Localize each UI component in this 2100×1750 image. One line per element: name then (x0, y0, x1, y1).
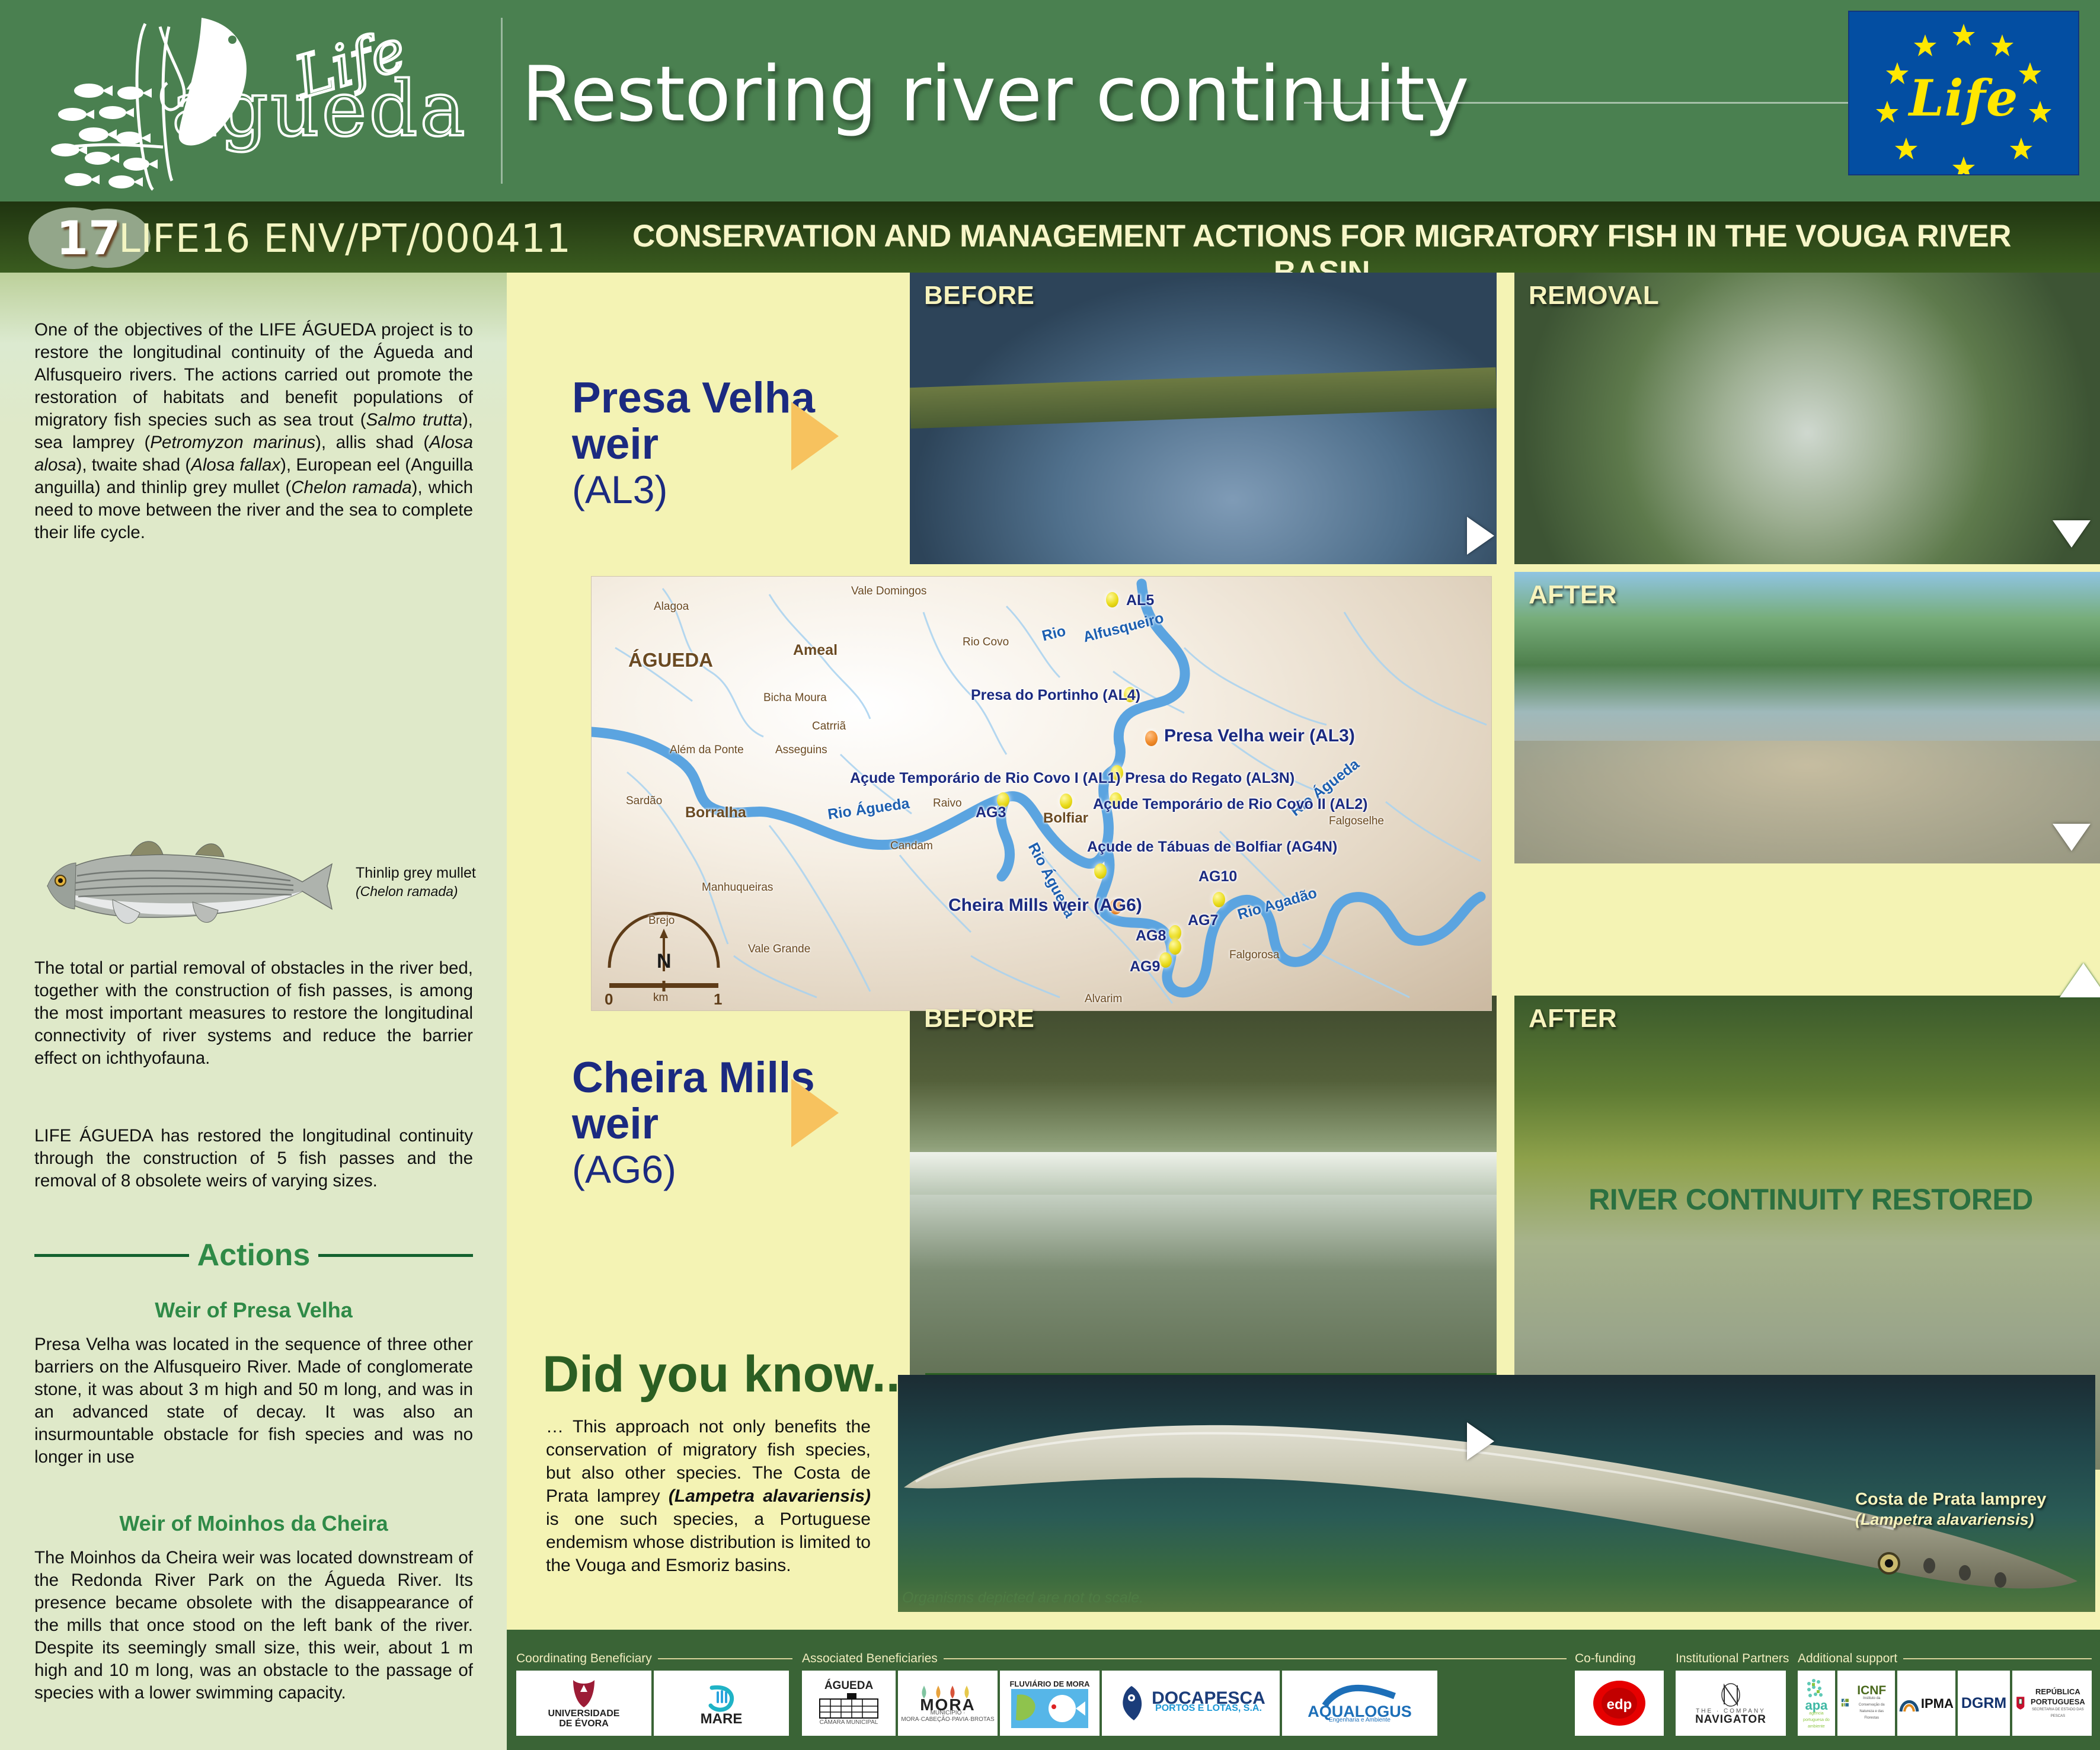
map-town-agueda: ÁGUEDA (628, 649, 713, 671)
footer-rule-additional (1903, 1658, 2092, 1659)
page-header: Life águeda Restoring river continuity (0, 0, 2100, 201)
map-town-borralha: Borralha (685, 804, 746, 821)
logo-agueda-word: águeda (172, 65, 468, 153)
intro-paragraph: One of the objectives of the LIFE ÁGUEDA… (34, 319, 473, 544)
logo-republica-title: REPÚBLICA PORTUGUESA (2028, 1687, 2088, 1707)
weir-1-title-line1: Presa Velha (572, 375, 815, 421)
logo-edp: edp (1575, 1671, 1664, 1736)
photo-after-weir1[interactable]: AFTER (1514, 572, 2100, 863)
eu-flag-life-label: Life (1849, 69, 2078, 127)
partner-footer: Coordinating Beneficiary UNIVERSIDADE DE… (507, 1630, 2100, 1750)
weir-2-code: (AG6) (572, 1147, 815, 1191)
map-rivers (592, 577, 1492, 1011)
panel-number-badge: 17 (28, 207, 117, 269)
eu-life-flag: Life (1848, 11, 2079, 175)
mullet-common-name: Thinlip grey mullet (356, 865, 476, 881)
logo-docapesca: DOCAPESCA PORTOS E LOTAS, S.A. (1102, 1671, 1280, 1736)
logo-docapesca-sub: PORTOS E LOTAS, S.A. (1152, 1703, 1265, 1713)
icnf-leaf-icon (1841, 1691, 1850, 1715)
mullet-scientific-name: (Chelon ramada) (356, 884, 458, 899)
logo-icnf: ICNF Instituto da Conservação da Naturez… (1837, 1671, 1895, 1736)
logo-fluviario-mora: FLUVIÁRIO DE MORA (1000, 1671, 1099, 1736)
river-continuity-restored-banner: RIVER CONTINUITY RESTORED (1550, 1182, 2072, 1217)
map-town-rio-covo: Rio Covo (963, 636, 1009, 649)
project-map[interactable]: Alagoa ÁGUEDA Ameal Vale Domingos Bicha … (591, 576, 1492, 1011)
logo-uevora-line1: UNIVERSIDADE (548, 1709, 620, 1719)
photo-before-weir1[interactable]: BEFORE (910, 273, 1497, 564)
weir-1-title-line2: weir (572, 421, 815, 468)
map-label-ag7: AG7 (1188, 912, 1218, 929)
map-dot-ag4n[interactable] (1094, 863, 1107, 879)
map-scale-zero: 0 (605, 990, 613, 1009)
ipma-arc-icon (1899, 1694, 1919, 1713)
project-code-bar: 17 LIFE16 ENV/PT/000411 CONSERVATION AND… (0, 201, 2100, 273)
map-label-ag10: AG10 (1198, 868, 1237, 885)
apa-dots-icon (1804, 1677, 1828, 1700)
mullet-caption: Thinlip grey mullet (Chelon ramada) (356, 864, 492, 901)
footer-rule-coordinating (658, 1658, 792, 1659)
logo-mare: MARE (654, 1671, 789, 1736)
logo-docapesca-title: DOCAPESCA (1152, 1693, 1265, 1703)
down-triangle-icon-1 (2053, 520, 2091, 548)
uevora-mark-icon (571, 1678, 597, 1709)
map-town-alem-da-ponte: Além da Ponte (670, 744, 744, 757)
fluviario-fish-icon (1011, 1689, 1088, 1728)
map-label-al4: Presa do Portinho (AL4) (971, 687, 1140, 704)
project-code: LIFE16 ENV/PT/000411 (119, 216, 571, 261)
logo-icnf-title: ICNF (1852, 1685, 1891, 1695)
arrow-right-icon-2 (791, 1079, 839, 1147)
logo-mora-title: MORA (920, 1700, 976, 1710)
map-town-alvarim: Alvarim (1085, 993, 1122, 1006)
svg-text:edp: edp (1607, 1697, 1632, 1713)
logo-ipma-title: IPMA (1921, 1698, 1954, 1709)
map-dot-ag8[interactable] (1169, 939, 1181, 955)
map-dot-al1[interactable] (1060, 794, 1072, 809)
map-town-vale-domingos: Vale Domingos (851, 585, 926, 598)
logo-fluviario-title: FLUVIÁRIO DE MORA (1009, 1679, 1089, 1689)
footer-label-additional: Additional support (1798, 1652, 1897, 1666)
logo-apa-title: apa (1805, 1700, 1827, 1710)
did-you-know-text: … This approach not only benefits the co… (546, 1415, 871, 1577)
lamprey-scientific-name: (Lampetra alavariensis) (1855, 1511, 2034, 1528)
footer-group-associated: Associated Beneficiaries ÁGUEDA (802, 1651, 1567, 1736)
map-dot-ag10[interactable] (1213, 892, 1225, 907)
logo-aqualogus: AQUALOGUS Engenharia e Ambiente (1282, 1671, 1437, 1736)
photo-label-before-2: BEFORE (924, 1004, 1034, 1034)
action-2-text: The Moinhos da Cheira weir was located d… (34, 1547, 473, 1704)
actions-rule-right (318, 1254, 473, 1257)
up-triangle-icon (2060, 963, 2100, 997)
map-town-candam: Candam (890, 840, 933, 853)
map-town-bolfiar: Bolfiar (1043, 810, 1088, 827)
paragraph-2: The total or partial removal of obstacle… (34, 957, 473, 1070)
map-town-catrria: Catrriã (812, 720, 846, 733)
logo-dgrm-title: DGRM (1961, 1698, 2006, 1709)
map-dot-al5[interactable] (1106, 592, 1118, 607)
logo-republica-sub: SECRETARIA DE ESTADO DAS PESCAS (2028, 1707, 2088, 1720)
weir-2-title-line1: Cheira Mills (572, 1055, 815, 1101)
actions-heading-label: Actions (197, 1237, 311, 1273)
map-label-ag6: Cheira Mills weir (AG6) (948, 895, 1142, 916)
life-agueda-logo: Life águeda (0, 0, 498, 201)
footer-label-cofunding: Co-funding (1575, 1652, 1636, 1666)
map-town-brejo: Brejo (648, 914, 675, 927)
lamprey-caption: Costa de Prata lamprey (Lampetra alavari… (1855, 1489, 2046, 1530)
mullet-illustration (24, 830, 356, 942)
docapesca-fish-icon (1116, 1684, 1147, 1723)
weir-1-title: Presa Velha weir (AL3) (572, 375, 815, 511)
map-town-falgorosa: Falgorosa (1229, 949, 1280, 962)
map-label-ag9: AG9 (1130, 958, 1160, 975)
logo-mora-sub: MUNICÍPIO · MORA·CABEÇÃO·PAVIA·BROTAS (901, 1710, 994, 1723)
photo-label-after-2: AFTER (1529, 1004, 1617, 1034)
lamprey-common-name: Costa de Prata lamprey (1855, 1490, 2046, 1509)
logo-universidade-evora: UNIVERSIDADE DE ÉVORA (516, 1671, 651, 1736)
mare-mark-icon (706, 1683, 737, 1714)
map-town-raivo: Raivo (933, 797, 962, 810)
map-label-al3: Presa Velha weir (AL3) (1164, 726, 1355, 746)
down-triangle-icon-2 (2053, 824, 2091, 851)
map-town-alagoa: Alagoa (654, 600, 689, 613)
actions-heading: Actions (34, 1237, 473, 1273)
footer-group-additional: Additional support apa agência portugues… (1798, 1651, 2092, 1736)
play-triangle-icon-2 (1467, 1422, 1494, 1460)
page-title: Restoring river continuity (522, 50, 1469, 139)
action-1-text: Presa Velha was located in the sequence … (34, 1333, 473, 1469)
weir-2-title: Cheira Mills weir (AG6) (572, 1055, 815, 1191)
not-to-scale-note: Organisms depicted are not to scale. (902, 1589, 1143, 1607)
footer-label-coordinating: Coordinating Beneficiary (516, 1652, 652, 1666)
map-label-al3n: Presa do Regato (AL3N) (1125, 770, 1294, 787)
map-town-bicha-moura: Bicha Moura (763, 692, 827, 705)
paragraph-3: LIFE ÁGUEDA has restored the longitudina… (34, 1125, 473, 1192)
logo-uevora-line2: DE ÉVORA (559, 1719, 609, 1729)
logo-agueda-title: ÁGUEDA (824, 1681, 873, 1691)
logo-mare-label: MARE (701, 1714, 743, 1724)
logo-apa: apa agência portuguesa do ambiente (1798, 1671, 1835, 1736)
map-label-ag4n: Açude de Tábuas de Bolfiar (AG4N) (1087, 839, 1337, 856)
logo-agueda-municipality: ÁGUEDA CÂMARA MUNICIPAL (802, 1671, 896, 1736)
weir-2-title-line2: weir (572, 1101, 815, 1147)
map-north-letter: N (657, 950, 672, 973)
logo-dgrm: DGRM (1958, 1671, 2010, 1736)
map-label-al2: Açude Temporário de Rio Covo II (AL2) (1093, 796, 1367, 813)
map-label-ag8: AG8 (1136, 927, 1166, 945)
photo-label-before-1: BEFORE (924, 281, 1034, 311)
photo-label-removal: REMOVAL (1529, 281, 1659, 311)
map-town-manhuqueiras: Manhuqueiras (702, 881, 773, 894)
portugal-shield-icon (2016, 1691, 2025, 1715)
map-town-ameal: Ameal (793, 642, 838, 659)
map-town-falgoselhe: Falgoselhe (1329, 815, 1384, 828)
logo-mora-municipality: MORA MUNICÍPIO · MORA·CABEÇÃO·PAVIA·BROT… (898, 1671, 998, 1736)
logo-navigator-title: NAVIGATOR (1695, 1714, 1766, 1725)
logo-republica-portuguesa: REPÚBLICA PORTUGUESA SECRETARIA DE ESTAD… (2012, 1671, 2092, 1736)
footer-group-coordinating: Coordinating Beneficiary UNIVERSIDADE DE… (516, 1651, 792, 1736)
map-town-sardao: Sardão (626, 795, 662, 808)
did-you-know-label: Did you know... (542, 1345, 915, 1404)
logo-ipma: IPMA (1897, 1671, 1955, 1736)
map-scale-unit: km (653, 991, 668, 1004)
footer-label-associated: Associated Beneficiaries (802, 1652, 938, 1666)
logo-apa-sub: agência portuguesa do ambiente (1801, 1710, 1831, 1730)
logo-aqualogus-sub: Engenharia e Ambiente (1329, 1717, 1391, 1723)
map-label-al1: Açude Temporário de Rio Covo I (AL1) (850, 770, 1121, 787)
footer-group-cofunding: Co-funding edp (1575, 1651, 1664, 1736)
footer-rule-associated (944, 1658, 1567, 1659)
action-1-title: Weir of Presa Velha (34, 1298, 473, 1323)
map-town-asseguins: Asseguins (775, 744, 827, 757)
logo-aqualogus-title: AQUALOGUS (1308, 1707, 1412, 1717)
logo-agueda-sub: CÂMARA MUNICIPAL (820, 1719, 878, 1726)
map-town-vale-grande: Vale Grande (748, 943, 810, 956)
logo-navigator: THE · COMPANY NAVIGATOR (1676, 1671, 1786, 1736)
photo-label-after-1: AFTER (1529, 580, 1617, 610)
action-2-title: Weir of Moinhos da Cheira (34, 1511, 473, 1536)
sidebar: One of the objectives of the LIFE ÁGUEDA… (0, 273, 507, 1750)
logo-icnf-sub: Instituto da Conservação da Natureza e d… (1852, 1695, 1891, 1722)
arrow-right-icon-1 (791, 402, 839, 471)
main-content: Presa Velha weir (AL3) Cheira Mills weir… (507, 273, 2100, 1630)
agueda-building-icon (816, 1691, 881, 1719)
footer-group-institutional: Institutional Partners THE · COMPANY NAV… (1676, 1651, 1786, 1736)
edp-mark-icon: edp (1590, 1678, 1649, 1728)
poster-root: Life águeda Restoring river continuity (0, 0, 2100, 1750)
header-divider (501, 18, 503, 184)
map-label-al5: AL5 (1126, 592, 1154, 609)
navigator-mark-icon (1717, 1682, 1744, 1708)
play-triangle-icon-1 (1467, 517, 1494, 555)
map-scale-one: 1 (714, 990, 722, 1009)
footer-label-institutional: Institutional Partners (1676, 1652, 1789, 1666)
map-dot-ag7[interactable] (1169, 925, 1181, 940)
actions-rule-left (34, 1254, 189, 1257)
weir-1-code: (AL3) (572, 468, 815, 511)
map-dot-ag9[interactable] (1159, 952, 1172, 968)
photo-removal-weir1[interactable]: REMOVAL (1514, 273, 2100, 564)
map-label-ag3: AG3 (976, 804, 1006, 821)
map-dot-al3[interactable] (1145, 731, 1158, 746)
title-rule (1304, 102, 1873, 104)
